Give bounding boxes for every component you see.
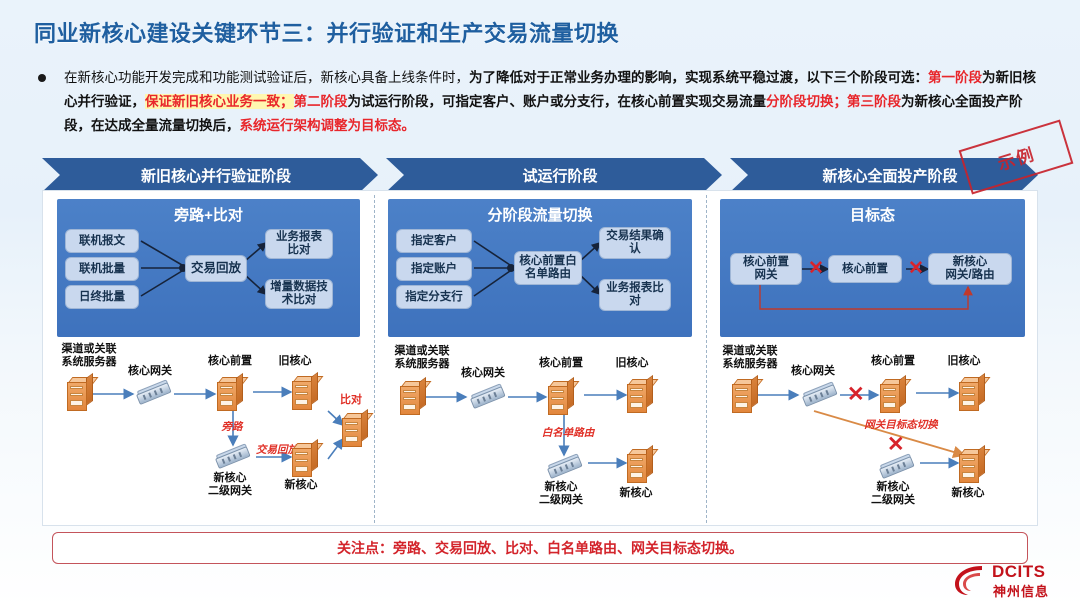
phase3-network-diagram: 渠道或关联 系统服务器 核心网关 核心前置 旧核心 ✕ ✕ 网关目标态切换 新核…: [706, 339, 1039, 527]
phase1-input-2[interactable]: 联机批量: [65, 257, 139, 281]
dcits-logo-en: DCITS: [992, 562, 1046, 582]
key-points-note: 关注点：旁路、交易回放、比对、白名单路由、网关目标态切换。: [52, 532, 1028, 564]
phase3-newcore-label: 新核心: [938, 487, 998, 500]
phase1-middle-node[interactable]: 交易回放: [185, 255, 247, 282]
page-title: 同业新核心建设关键环节三：并行验证和生产交易流量切换: [34, 16, 619, 48]
phase2-subgateway-label: 新核心 二级网关: [524, 481, 598, 507]
phase2-input-1[interactable]: 指定客户: [396, 229, 472, 253]
phase3-subgateway-label: 新核心 二级网关: [856, 481, 930, 507]
phase2-oldcore-label: 旧核心: [602, 357, 662, 370]
phase3-chain-node-2[interactable]: 核心前置: [828, 255, 902, 283]
phase-chevron-2[interactable]: 试运行阶段: [386, 158, 722, 192]
phase1-gateway-label: 核心网关: [115, 365, 185, 378]
phase3-x-mark-1: ✕: [808, 259, 824, 278]
phase1-output-1[interactable]: 业务报表 比对: [265, 229, 333, 259]
phase3-source-server-icon: [732, 379, 758, 413]
phase2-input-3[interactable]: 指定分支行: [396, 285, 472, 309]
phase-chevron-1[interactable]: 新旧核心并行验证阶段: [42, 158, 378, 192]
phase2-middle-node[interactable]: 核心前置白 名单路由: [514, 251, 582, 285]
phase3-front-server-icon: [880, 379, 906, 413]
phase1-network-diagram: 渠道或关联 系统服务器 核心网关 核心前置 旧核心 旁路 新核心 二级网关 交易…: [43, 339, 374, 527]
phase1-input-1[interactable]: 联机报文: [65, 229, 139, 253]
bullet-run: 第二阶段: [294, 94, 348, 109]
phase2-source-server-icon: [400, 381, 426, 415]
phase1-newcore-server-icon: [292, 443, 318, 477]
phase3-x-mark-2: ✕: [908, 259, 924, 278]
phase3-gateway-label: 核心网关: [778, 365, 848, 378]
bullet-text: 在新核心功能开发完成和功能测试验证后，新核心具备上线条件时，为了降低对于正常业务…: [64, 66, 1038, 138]
phase3-network-x-mark-2: ✕: [887, 434, 905, 455]
dcits-logo: DCITS 神州信息: [952, 560, 1070, 600]
phase1-annotation-bypass: 旁路: [209, 421, 255, 434]
phase2-gateway-label: 核心网关: [448, 367, 518, 380]
phase1-input-3[interactable]: 日终批量: [65, 285, 139, 309]
bullet-run: 以下三个阶段可选：: [807, 70, 929, 85]
phase-column-2: 分阶段流量切换 指定客户 指定账户 指定分支行 核心前置白 名单路由 交易结果确…: [374, 191, 706, 527]
phase2-annotation-whitelist: 白名单路由: [530, 427, 606, 440]
phase3-annotation-switch: 网关目标态切换: [846, 419, 956, 432]
phase1-annotation-compare: 比对: [329, 394, 373, 407]
phase1-source-server-icon: [67, 377, 93, 411]
phase1-output-2[interactable]: 增量数据技 术比对: [265, 279, 333, 309]
phase3-newcore-server-icon: [959, 449, 985, 483]
phase1-compare-server-icon: [342, 413, 368, 447]
phase-column-1: 旁路+比对 联机报文 联机批量 日终批量 交易回放 业务报表 比对 增量数据技 …: [43, 191, 374, 527]
dcits-swirl-icon: [952, 563, 988, 597]
phase3-oldcore-label: 旧核心: [934, 355, 994, 368]
phase1-oldcore-label: 旧核心: [265, 355, 325, 368]
phase1-front-server-icon: [217, 377, 243, 411]
bullet-run: 系统运行架构调整为目标态。: [240, 118, 416, 133]
phase2-newcore-server-icon: [627, 449, 653, 483]
bullet-run: 第一阶段: [928, 70, 982, 85]
phase2-output-1[interactable]: 交易结果确 认: [599, 227, 671, 259]
phase2-front-label: 核心前置: [526, 357, 596, 370]
bullet-paragraph: 在新核心功能开发完成和功能测试验证后，新核心具备上线条件时，为了降低对于正常业务…: [38, 66, 1038, 138]
phase2-newcore-label: 新核心: [606, 487, 666, 500]
phase1-oldcore-server-icon: [292, 376, 318, 410]
phase3-chain-node-3[interactable]: 新核心 网关/路由: [928, 253, 1012, 285]
bullet-run: 分阶段切换；: [766, 94, 847, 109]
bullet-run: 第三阶段: [847, 94, 901, 109]
phase2-blue-panel: 分阶段流量切换 指定客户 指定账户 指定分支行 核心前置白 名单路由 交易结果确…: [388, 199, 692, 337]
bullet-run: 保证新旧核心业务一致；: [145, 94, 294, 109]
diagram-card: 旁路+比对 联机报文 联机批量 日终批量 交易回放 业务报表 比对 增量数据技 …: [42, 190, 1038, 526]
phase3-chain-node-1[interactable]: 核心前置 网关: [730, 253, 802, 285]
phase2-network-diagram: 渠道或关联 系统服务器 核心网关 核心前置 旧核心 白名单路由 新核心 二级网关…: [374, 339, 706, 527]
phase1-blue-panel: 旁路+比对 联机报文 联机批量 日终批量 交易回放 业务报表 比对 增量数据技 …: [57, 199, 360, 337]
phase2-input-2[interactable]: 指定账户: [396, 257, 472, 281]
phase2-output-2[interactable]: 业务报表比 对: [599, 279, 671, 311]
phase1-newcore-label: 新核心: [271, 479, 331, 492]
bullet-run: 为试运行阶段，可指定客户、账户或分支行，在核心前置实现交易流量: [348, 94, 767, 109]
bullet-run: 在新核心功能开发完成和功能测试验证后，新核心具备上线条件时，: [64, 70, 469, 85]
phase3-front-label: 核心前置: [858, 355, 928, 368]
phase2-front-server-icon: [548, 381, 574, 415]
bullet-run: 为了降低对于正常业务办理的影响，实现系统平稳过渡，: [469, 70, 807, 85]
phase3-blue-panel: 目标态 核心前置 网关 核心前置 新核心 网关/路由 ✕ ✕: [720, 199, 1025, 337]
dcits-logo-cn: 神州信息: [993, 581, 1049, 600]
phase2-oldcore-server-icon: [627, 379, 653, 413]
phase1-front-label: 核心前置: [195, 355, 265, 368]
bullet-dot-icon: [38, 74, 46, 82]
phase-column-3: 目标态 核心前置 网关 核心前置 新核心 网关/路由 ✕ ✕: [706, 191, 1039, 527]
phase-header-row: 新旧核心并行验证阶段 试运行阶段 新核心全面投产阶段: [42, 158, 1038, 192]
phase1-subgateway-label: 新核心 二级网关: [193, 472, 267, 498]
phase3-network-x-mark-1: ✕: [847, 384, 865, 405]
phase3-oldcore-server-icon: [959, 377, 985, 411]
